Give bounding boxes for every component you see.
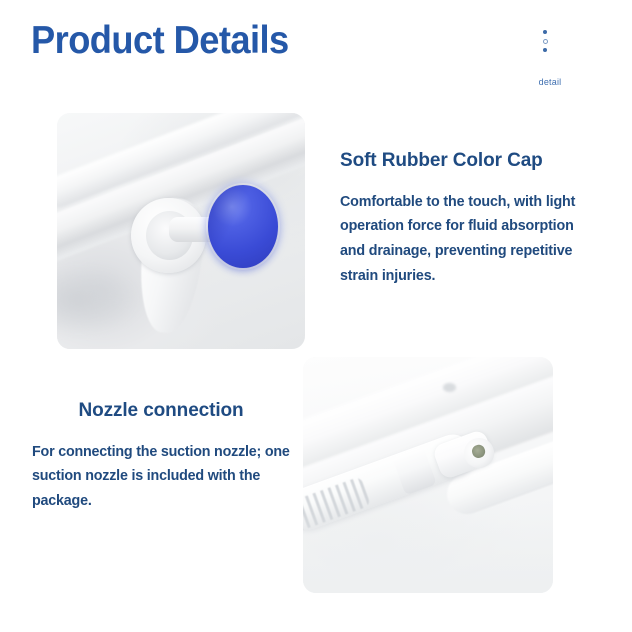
section-heading: Soft Rubber Color Cap (340, 150, 598, 173)
image-lower-gradient (303, 513, 553, 593)
section-text-nozzle-connection: Nozzle connection For connecting the suc… (26, 400, 296, 514)
dot-stack-icon (539, 30, 551, 57)
image-soft-shadow (57, 264, 141, 335)
corner-label: detail (515, 77, 585, 87)
image-artwork-cap (57, 113, 305, 349)
tubing-speck (443, 383, 456, 392)
section-body: Comfortable to the touch, with light ope… (340, 190, 598, 288)
corner-decoration: detail (515, 30, 585, 108)
blue-rubber-cap-shading (208, 185, 277, 268)
image-artwork-nozzle (303, 357, 553, 593)
section-text-soft-rubber-color-cap: Soft Rubber Color Cap Comfortable to the… (340, 150, 598, 288)
dot-hollow-middle-icon (543, 39, 548, 44)
product-details-page: Product Details detail Soft Rubber Color… (0, 0, 632, 632)
dot-filled-bottom-icon (543, 48, 547, 52)
dot-filled-top-icon (543, 30, 547, 34)
product-image-nozzle-connection (303, 357, 553, 593)
section-body: For connecting the suction nozzle; one s… (26, 440, 296, 514)
section-heading: Nozzle connection (26, 400, 296, 423)
product-image-soft-rubber-color-cap (57, 113, 305, 349)
page-title: Product Details (31, 18, 289, 64)
